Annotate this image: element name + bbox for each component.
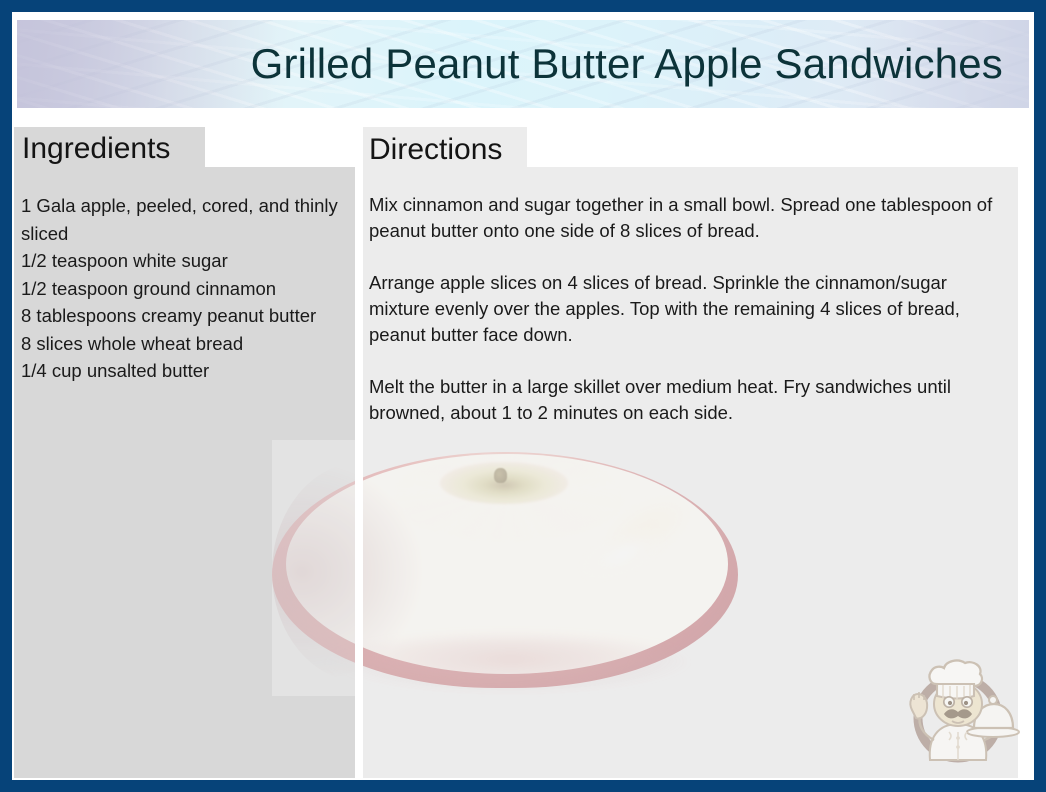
- title-banner: Grilled Peanut Butter Apple Sandwiches: [17, 20, 1029, 108]
- ingredient-item: 1 Gala apple, peeled, cored, and thinly …: [21, 192, 341, 247]
- ingredient-item: 8 slices whole wheat bread: [21, 330, 341, 358]
- directions-heading: Directions: [369, 131, 502, 169]
- ingredients-heading: Ingredients: [22, 130, 170, 168]
- ingredient-item: 1/2 teaspoon ground cinnamon: [21, 275, 341, 303]
- page-title: Grilled Peanut Butter Apple Sandwiches: [17, 40, 1003, 88]
- directions-steps: Mix cinnamon and sugar together in a sma…: [369, 192, 1009, 426]
- ingredient-item: 8 tablespoons creamy peanut butter: [21, 302, 341, 330]
- panel-divider: [355, 167, 363, 778]
- direction-step: Mix cinnamon and sugar together in a sma…: [369, 192, 1009, 244]
- direction-step: Arrange apple slices on 4 slices of brea…: [369, 270, 1009, 348]
- chef-logo: [896, 648, 1024, 776]
- ingredient-item: 1/2 teaspoon white sugar: [21, 247, 341, 275]
- ingredient-item: 1/4 cup unsalted butter: [21, 357, 341, 385]
- chef-hat: [929, 661, 982, 686]
- recipe-slide: Grilled Peanut Butter Apple Sandwiches I…: [0, 0, 1046, 792]
- ingredients-list: 1 Gala apple, peeled, cored, and thinly …: [21, 192, 341, 385]
- direction-step: Melt the butter in a large skillet over …: [369, 374, 1009, 426]
